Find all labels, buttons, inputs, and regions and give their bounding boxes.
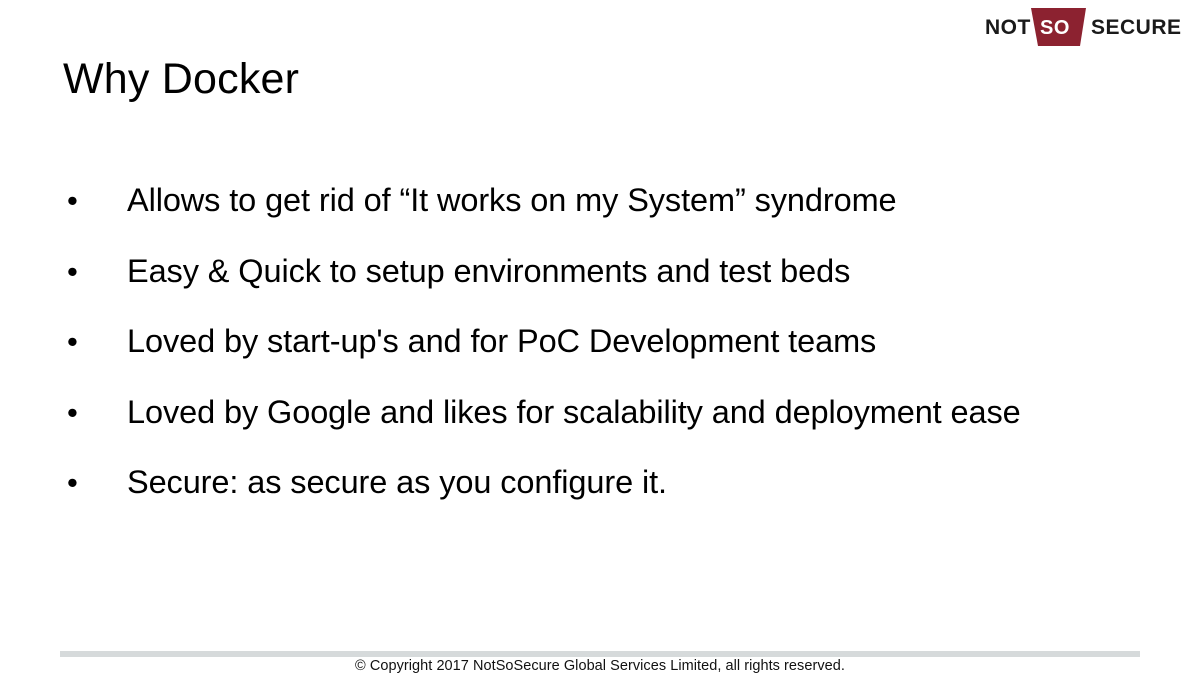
list-item-label: Easy & Quick to setup environments and t…	[127, 249, 1143, 294]
bullet-icon: •	[63, 178, 127, 223]
footer-divider	[60, 651, 1140, 657]
slide-canvas: NOT SO SECURE Why Docker • Allows to get…	[0, 0, 1200, 675]
list-item: • Allows to get rid of “It works on my S…	[63, 178, 1143, 249]
bullet-icon: •	[63, 319, 127, 364]
list-item: • Easy & Quick to setup environments and…	[63, 249, 1143, 320]
list-item-label: Secure: as secure as you configure it.	[127, 460, 1143, 505]
bullet-list: • Allows to get rid of “It works on my S…	[63, 178, 1143, 531]
footer-copyright: © Copyright 2017 NotSoSecure Global Serv…	[0, 658, 1200, 674]
list-item: • Secure: as secure as you configure it.	[63, 460, 1143, 531]
list-item: • Loved by start-up's and for PoC Develo…	[63, 319, 1143, 390]
list-item: • Loved by Google and likes for scalabil…	[63, 390, 1143, 461]
logo-svg: NOT SO SECURE	[983, 7, 1193, 47]
bullet-icon: •	[63, 390, 127, 435]
bullet-icon: •	[63, 460, 127, 505]
page-title: Why Docker	[63, 55, 299, 104]
logo-text-so: SO	[1040, 17, 1070, 39]
list-item-label: Loved by start-up's and for PoC Developm…	[127, 319, 1143, 364]
list-item-label: Loved by Google and likes for scalabilit…	[127, 390, 1143, 435]
logo-text-secure: SECURE	[1091, 16, 1182, 39]
logo-text-not: NOT	[985, 16, 1031, 39]
bullet-icon: •	[63, 249, 127, 294]
list-item-label: Allows to get rid of “It works on my Sys…	[127, 178, 1143, 223]
notsosecure-logo: NOT SO SECURE	[983, 7, 1193, 47]
